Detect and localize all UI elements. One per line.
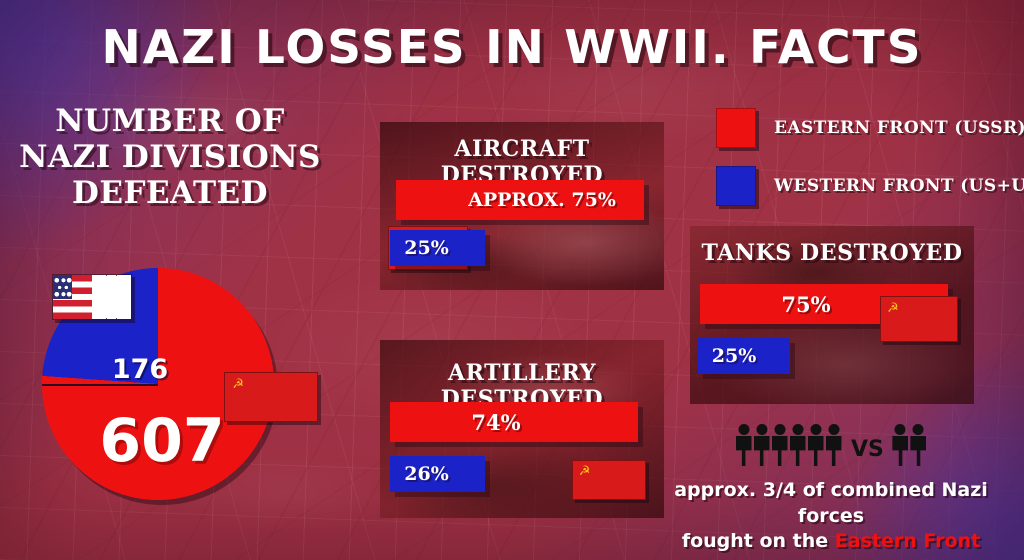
divisions-pie-chart: 176 607 ☭ [42, 268, 274, 500]
bar-artillery-eastern: 74% [390, 402, 638, 442]
person-icon [892, 424, 909, 466]
panel-aircraft-destroyed: AIRCRAFT DESTROYED APPROX. 75% ☭ 25% [380, 122, 664, 290]
footer-caption-prefix: fought on the [682, 530, 835, 552]
pie-value-western: 176 [100, 354, 180, 385]
person-icon [753, 424, 770, 466]
forces-pictogram: VS [735, 420, 915, 466]
us-flag-half [53, 275, 92, 319]
footer-caption: approx. 3/4 of combined Nazi forces foug… [646, 478, 1016, 555]
infographic-canvas: NAZI LOSSES IN WWII. FACTS NUMBER OF NAZ… [0, 0, 1024, 560]
us-flag-canton [53, 275, 72, 299]
bar-label-artillery-western: 26% [404, 463, 449, 485]
bar-aircraft-western: 25% [390, 230, 485, 266]
bar-label-tanks-eastern: 75% [781, 292, 830, 317]
person-icon [825, 424, 842, 466]
bar-label-artillery-eastern: 74% [471, 410, 520, 435]
bar-aircraft-eastern: APPROX. 75% [396, 180, 644, 220]
legend: EASTERN FRONT (USSR) WESTERN FRONT (US+U… [716, 108, 1016, 224]
legend-swatch-western [716, 166, 756, 206]
legend-item-western: WESTERN FRONT (US+UK) [716, 166, 1016, 206]
page-title: NAZI LOSSES IN WWII. FACTS [0, 20, 1024, 74]
footer-caption-line-2: fought on the Eastern Front [646, 529, 1016, 555]
bar-artillery-western: 26% [390, 456, 485, 492]
pie-heading-line-3: DEFEATED [10, 176, 330, 212]
ussr-flag-icon: ☭ [224, 372, 318, 422]
pie-heading-line-2: NAZI DIVISIONS [10, 140, 330, 176]
person-icon [771, 424, 788, 466]
hammer-sickle-icon: ☭ [232, 377, 256, 400]
uk-flag-half [92, 275, 131, 319]
legend-label-western: WESTERN FRONT (US+UK) [774, 176, 1024, 196]
person-icon [910, 424, 927, 466]
legend-swatch-eastern [716, 108, 756, 148]
footer-caption-line-1: approx. 3/4 of combined Nazi forces [646, 478, 1016, 529]
ussr-flag-icon: ☭ [880, 296, 958, 342]
bar-label-aircraft-eastern: APPROX. 75% [468, 189, 616, 211]
usuk-flag-icon [52, 274, 132, 320]
panel-heading-tanks: TANKS DESTROYED [690, 240, 974, 266]
person-icon [789, 424, 806, 466]
footer-caption-highlight: Eastern Front [835, 530, 980, 552]
legend-label-eastern: EASTERN FRONT (USSR) [774, 118, 1024, 138]
bar-label-tanks-western: 25% [712, 345, 757, 367]
bar-tanks-western: 25% [698, 338, 790, 374]
panel-artillery-destroyed: ARTILLERY DESTROYED 74% ☭ 26% [380, 340, 664, 518]
panel-tanks-destroyed: TANKS DESTROYED 75% ☭ 25% [690, 226, 974, 404]
ussr-flag-icon: ☭ [572, 460, 646, 500]
hammer-sickle-icon: ☭ [887, 301, 907, 322]
legend-item-eastern: EASTERN FRONT (USSR) [716, 108, 1016, 148]
pie-heading: NUMBER OF NAZI DIVISIONS DEFEATED [10, 104, 330, 212]
vs-separator: VS [851, 437, 884, 462]
person-icon [807, 424, 824, 466]
bar-label-aircraft-western: 25% [404, 237, 449, 259]
person-icon [735, 424, 752, 466]
pie-heading-line-1: NUMBER OF [10, 104, 330, 140]
hammer-sickle-icon: ☭ [579, 464, 598, 482]
